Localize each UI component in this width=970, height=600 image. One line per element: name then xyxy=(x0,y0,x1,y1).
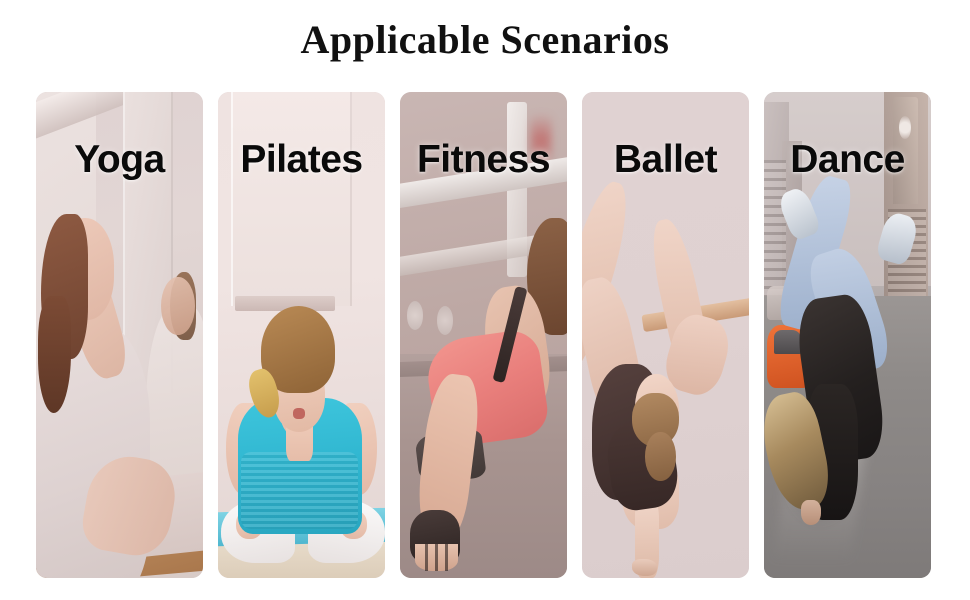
dance-clock-face-decor xyxy=(899,116,911,138)
scenario-label-pilates: Pilates xyxy=(218,138,385,182)
scenario-panel-pilates[interactable]: Pilates xyxy=(218,92,385,578)
fitness-finger-gap-a-decor xyxy=(425,544,428,571)
scenario-label-ballet: Ballet xyxy=(582,138,749,182)
ballet-foot-decor xyxy=(632,559,657,576)
ballet-bun-decor xyxy=(645,432,675,481)
pilates-wall-decor xyxy=(231,92,351,306)
pilates-lips-decor xyxy=(293,408,305,419)
scenario-panel-dance[interactable]: Dance xyxy=(764,92,931,578)
fitness-weight-plate-a-decor xyxy=(407,301,424,330)
scenario-label-dance: Dance xyxy=(764,138,931,182)
page-title: Applicable Scenarios xyxy=(0,14,970,66)
fitness-finger-gap-c-decor xyxy=(445,544,448,571)
fitness-weight-plate-b-decor xyxy=(437,306,454,335)
pilates-tank-texture-decor xyxy=(241,452,358,530)
scenario-panel-ballet[interactable]: Ballet xyxy=(582,92,749,578)
fitness-finger-gap-b-decor xyxy=(435,544,438,571)
scenario-label-fitness: Fitness xyxy=(400,138,567,182)
dance-hand-decor xyxy=(801,500,821,524)
yoga-background-head-decor xyxy=(161,277,194,335)
scenario-label-yoga: Yoga xyxy=(36,138,203,182)
scenario-panel-fitness[interactable]: Fitness xyxy=(400,92,567,578)
scenario-panel-strip: Yoga xyxy=(36,92,934,578)
dance-car-window-decor xyxy=(774,330,801,354)
scenario-panel-yoga[interactable]: Yoga xyxy=(36,92,203,578)
applicable-scenarios-banner: Applicable Scenarios Yoga xyxy=(0,0,970,600)
